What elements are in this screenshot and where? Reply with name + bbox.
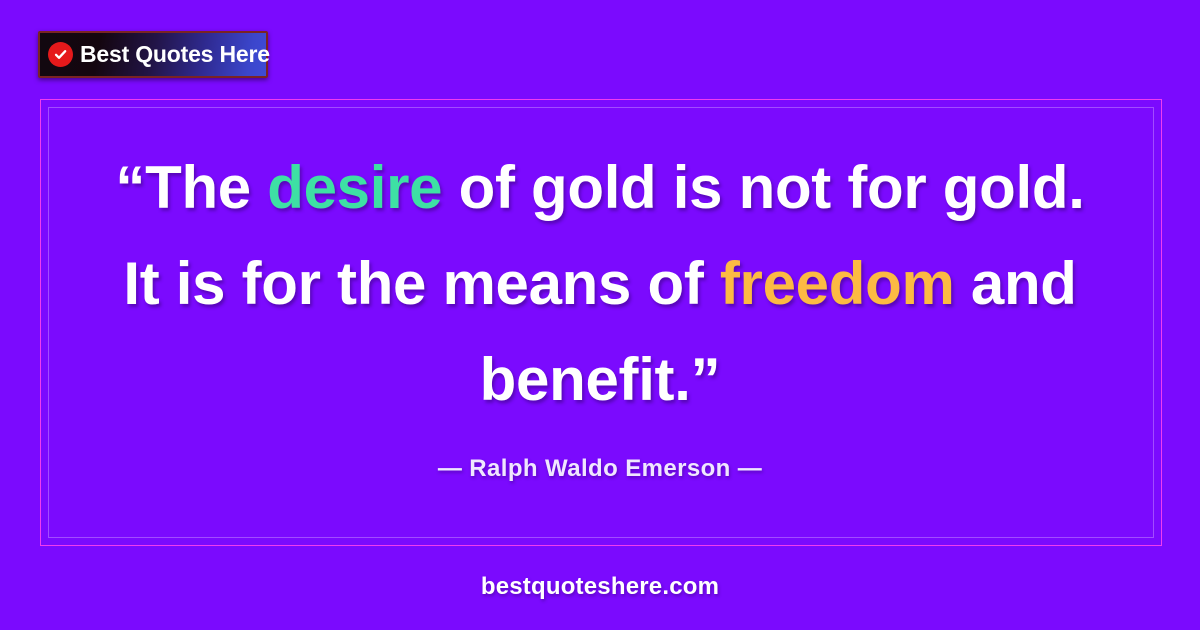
quote-line-2: It is for the means of freedom and	[70, 236, 1130, 332]
quote-highlight-desire: desire	[267, 154, 442, 221]
quote-poster: Best Quotes Here “The desire of gold is …	[0, 0, 1200, 630]
quote-line-3: benefit.”	[70, 332, 1130, 428]
site-url-footer: bestquoteshere.com	[0, 573, 1200, 601]
quote-line-1-part-1: “The	[115, 154, 267, 221]
brand-badge-label: Best Quotes Here	[80, 43, 270, 66]
check-circle-icon	[48, 42, 73, 67]
brand-badge[interactable]: Best Quotes Here	[38, 31, 268, 78]
quote-line-2-part-1: It is for the means of	[123, 250, 720, 317]
quote-line-2-part-2: and	[955, 250, 1077, 317]
quote-author: — Ralph Waldo Emerson —	[0, 455, 1200, 483]
quote-line-1: “The desire of gold is not for gold.	[70, 140, 1130, 236]
quote-highlight-freedom: freedom	[720, 250, 955, 317]
quote-text-block: “The desire of gold is not for gold. It …	[70, 140, 1130, 428]
quote-line-1-part-2: of gold is not for gold.	[442, 154, 1084, 221]
